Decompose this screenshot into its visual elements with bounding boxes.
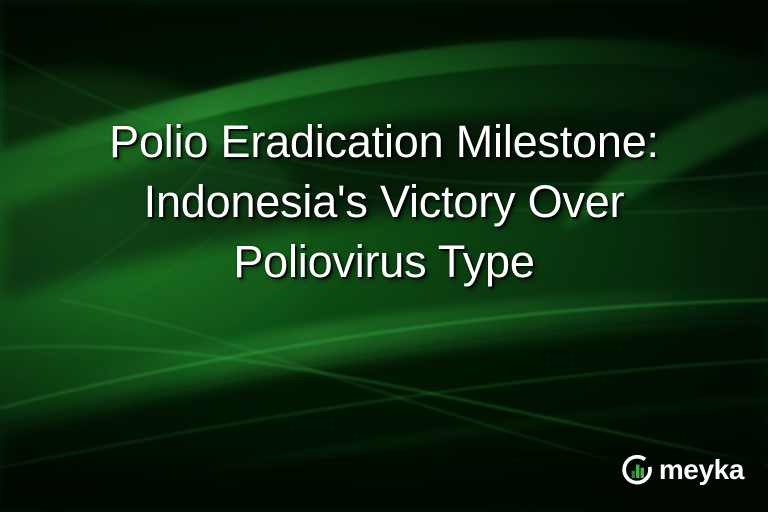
meyka-circle-barchart-icon xyxy=(621,453,654,486)
social-share-banner: Polio Eradication Milestone: Indonesia's… xyxy=(0,0,768,512)
banner-title: Polio Eradication Milestone: Indonesia's… xyxy=(0,112,768,292)
title-line-3: Poliovirus Type xyxy=(34,232,734,292)
title-line-1: Polio Eradication Milestone: xyxy=(34,112,734,172)
title-line-2: Indonesia's Victory Over xyxy=(34,172,734,232)
meyka-logo[interactable]: meyka xyxy=(621,453,744,486)
meyka-wordmark: meyka xyxy=(659,456,744,484)
